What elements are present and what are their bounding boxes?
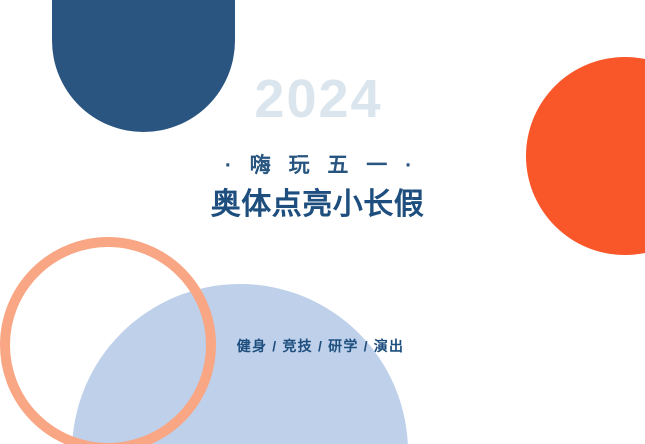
headline-subtitle: · 嗨 玩 五 一 · [0, 154, 644, 178]
year-label: 2024 [0, 72, 641, 126]
poster-canvas: 2024 · 嗨 玩 五 一 · 奥体点亮小长假 健身 / 竞技 / 研学 / … [0, 0, 645, 444]
headline-title: 奥体点亮小长假 [0, 188, 640, 223]
text-layer: 2024 · 嗨 玩 五 一 · 奥体点亮小长假 健身 / 竞技 / 研学 / … [0, 0, 645, 444]
tagline-label: 健身 / 竞技 / 研学 / 演出 [0, 338, 643, 355]
